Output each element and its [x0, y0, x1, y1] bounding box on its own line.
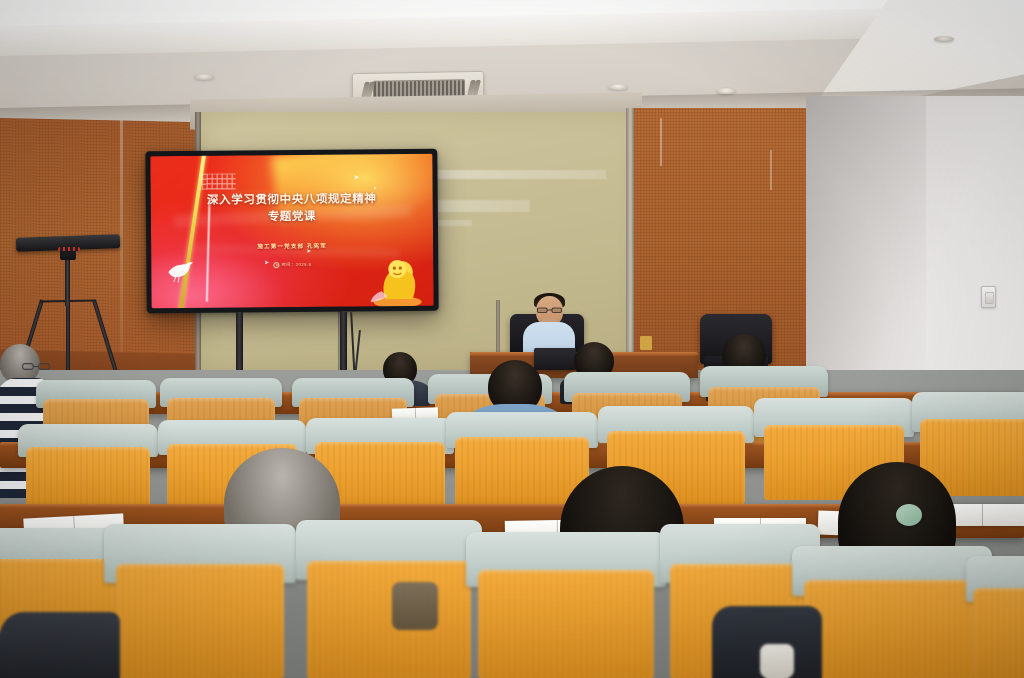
attendee-torso [0, 612, 120, 678]
tripod-column [65, 258, 70, 306]
hair-scrunchie [896, 504, 922, 526]
paper-stack [760, 644, 794, 678]
slide-dot-pattern [201, 174, 235, 190]
bird-icon: ➤ [354, 174, 360, 181]
recessed-downlight-icon [934, 36, 954, 42]
slide-title-line-2: 专题党课 [151, 207, 433, 225]
led-indicator-icon [58, 247, 80, 251]
recessed-downlight-icon [194, 74, 214, 80]
laptop-icon[interactable] [534, 348, 576, 370]
attendee-arm [392, 582, 438, 630]
guardian-lion-icon [368, 247, 429, 308]
bird-icon: ➤ [373, 186, 376, 190]
audience-seat[interactable] [792, 546, 992, 678]
wall-panel-seam [120, 120, 123, 370]
audience-seat[interactable] [104, 524, 296, 678]
audience-seat[interactable] [966, 556, 1024, 678]
slide-date-label: 时间：2025.5 [282, 262, 312, 268]
clock-icon [273, 262, 279, 268]
slide-title-line-1: 深入学习贯彻中央八项规定精神 [151, 190, 433, 208]
wall-plate [640, 336, 652, 350]
audience-seat[interactable] [296, 520, 482, 678]
tv-screen-content: ➤ ➤ ➤ ➤ 深入学习贯彻中央八项规定精神 专题党课 施工第一党支部 孔宪军 … [150, 154, 433, 308]
light-switch-rocker[interactable] [985, 292, 994, 304]
presentation-screen[interactable]: ➤ ➤ ➤ ➤ 深入学习贯彻中央八项规定精神 专题党课 施工第一党支部 孔宪军 … [145, 149, 438, 314]
light-switch[interactable] [981, 286, 996, 308]
wall-panel-seam [770, 150, 772, 190]
recessed-downlight-icon [716, 88, 736, 94]
audience-seat[interactable] [18, 424, 158, 512]
wall-panel-seam [660, 118, 662, 166]
eyeglasses-icon [537, 307, 562, 313]
recessed-downlight-icon [608, 84, 628, 90]
slide-title: 深入学习贯彻中央八项规定精神 专题党课 [151, 190, 433, 225]
wall-shadow [806, 96, 926, 396]
audience-seat[interactable] [466, 532, 666, 678]
conference-room-photo: ➤ ➤ ➤ ➤ 深入学习贯彻中央八项规定精神 专题党课 施工第一党支部 孔宪军 … [0, 0, 1024, 678]
tripod-leg [66, 300, 70, 380]
eyeglasses-icon [22, 362, 50, 371]
